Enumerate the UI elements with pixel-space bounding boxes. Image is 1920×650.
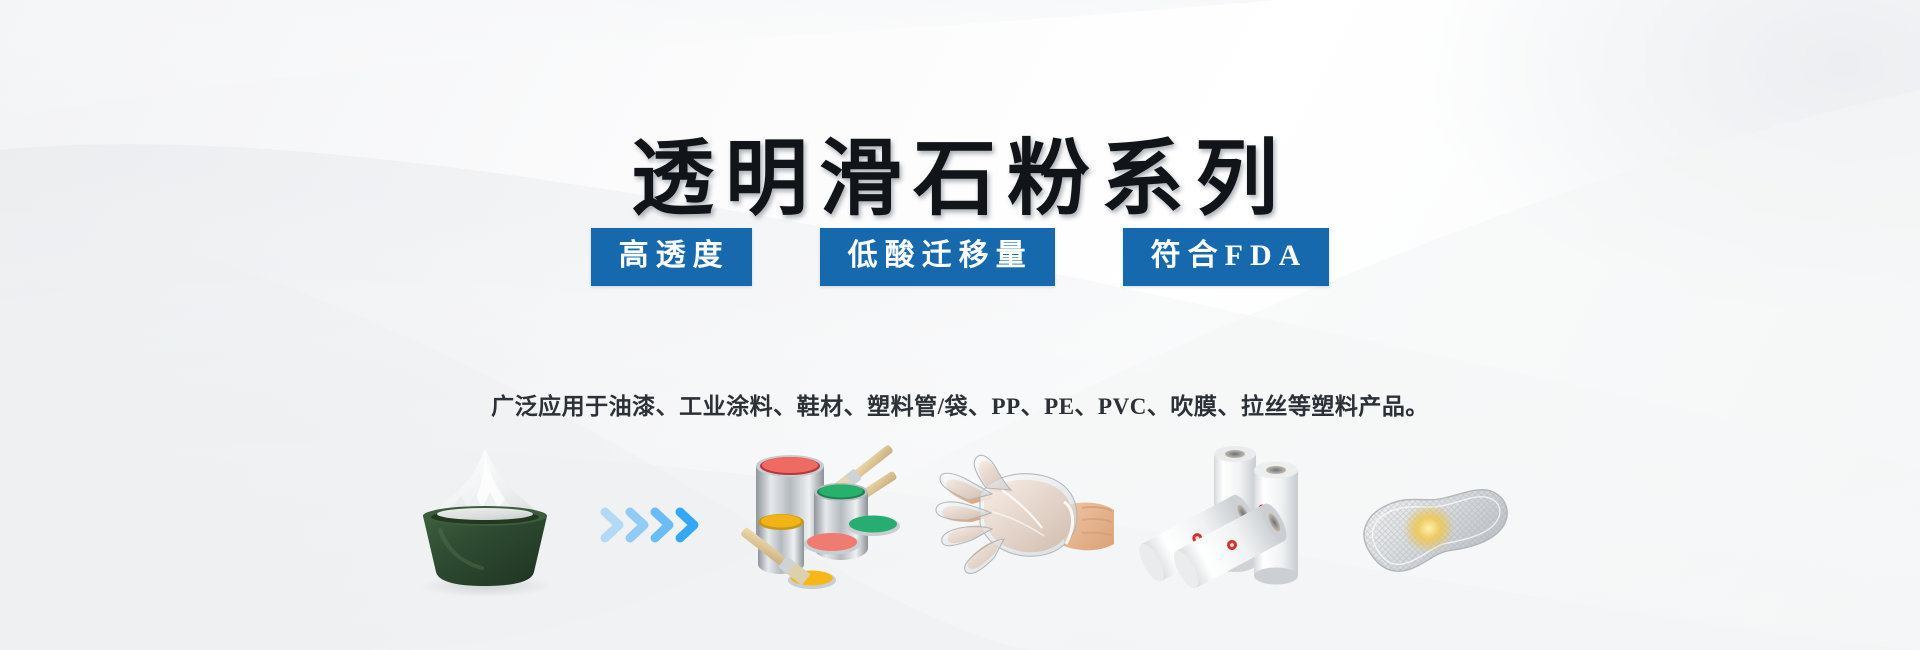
film-rolls-image: [1136, 430, 1326, 620]
application-description: 广泛应用于油漆、工业涂料、鞋材、塑料管/袋、PP、PE、PVC、吹膜、拉丝等塑料…: [491, 393, 1429, 421]
feature-badge-transparency[interactable]: 高透度: [591, 228, 752, 286]
chevron-arrows-icon: [594, 430, 714, 620]
feature-badge-low-acid-migration[interactable]: 低酸迁移量: [820, 228, 1055, 286]
plastic-glove-hand-image: [932, 430, 1122, 620]
feature-badge-fda-compliant[interactable]: 符合FDA: [1123, 228, 1330, 286]
talc-powder-bowl-image: [390, 430, 580, 620]
product-image-strip: [0, 425, 1920, 625]
feature-badge-list: 高透度 低酸迁移量 符合FDA: [0, 228, 1920, 286]
paint-cans-image: [728, 430, 918, 620]
shoe-sole-image: [1340, 430, 1530, 620]
page-title: 透明滑石粉系列: [631, 138, 1289, 221]
product-banner: 透明滑石粉系列 高透度 低酸迁移量 符合FDA 广泛应用于油漆、工业涂料、鞋材、…: [0, 0, 1920, 650]
